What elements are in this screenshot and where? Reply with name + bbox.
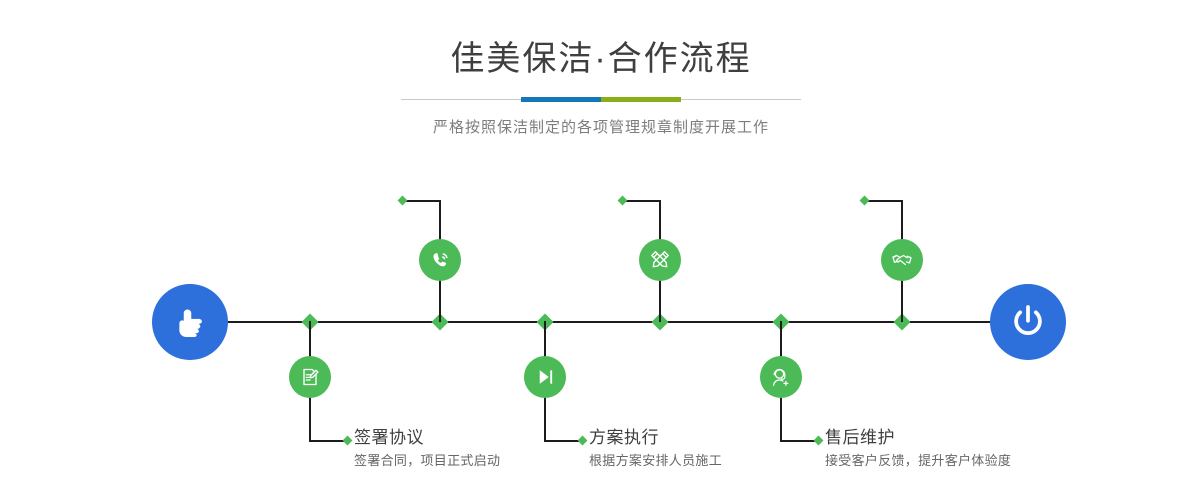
timeline-end-node [990,284,1066,360]
header: 佳美保洁·合作流程 严格按照保洁制定的各项管理规章制度开展工作 [0,0,1202,137]
step-6-icon-bubble [760,356,802,398]
title-divider [401,94,801,106]
step-4-label: 方案执行 根据方案安排人员施工 [589,427,722,471]
step-2-desc: 签署合同，项目正式启动 [354,451,500,471]
power-icon [1008,302,1048,342]
step-1-elbow [404,200,441,202]
phone-call-icon [428,248,452,272]
step-4-elbow [544,440,582,442]
document-sign-icon [298,365,322,389]
step-5-label-marker [860,196,870,206]
headset-support-icon [769,365,793,389]
step-2-icon-bubble [289,356,331,398]
step-6-elbow [780,440,818,442]
step-5-icon-bubble [881,239,923,281]
handshake-icon [890,248,914,272]
step-4-icon-bubble [524,356,566,398]
step-6-label-marker [814,436,824,446]
timeline-start-node [152,284,228,360]
pencil-ruler-icon [648,248,672,272]
step-2-label-marker [343,436,353,446]
step-3-icon-bubble [639,239,681,281]
divider-accent-blue [521,97,601,102]
step-4-desc: 根据方案安排人员施工 [589,451,722,471]
step-3-elbow [624,200,661,202]
step-4-title: 方案执行 [589,427,722,449]
step-2-elbow [309,440,347,442]
step-1-icon-bubble [419,239,461,281]
step-2-title: 签署协议 [354,427,500,449]
flow-diagram: 佳美保洁·合作流程 严格按照保洁制定的各项管理规章制度开展工作 [0,0,1202,502]
step-5-elbow [866,200,903,202]
divider-accent-green [601,97,681,102]
page-title: 佳美保洁·合作流程 [0,38,1202,80]
play-execute-icon [533,365,557,389]
step-6-desc: 接受客户反馈，提升客户体验度 [825,451,1011,471]
step-2-label: 签署协议 签署合同，项目正式启动 [354,427,500,471]
pointing-hand-icon [170,302,210,342]
step-6-label: 售后维护 接受客户反馈，提升客户体验度 [825,427,1011,471]
step-6-title: 售后维护 [825,427,1011,449]
step-3-label-marker [618,196,628,206]
step-4-label-marker [578,436,588,446]
page-subtitle: 严格按照保洁制定的各项管理规章制度开展工作 [0,116,1202,137]
step-1-label-marker [398,196,408,206]
